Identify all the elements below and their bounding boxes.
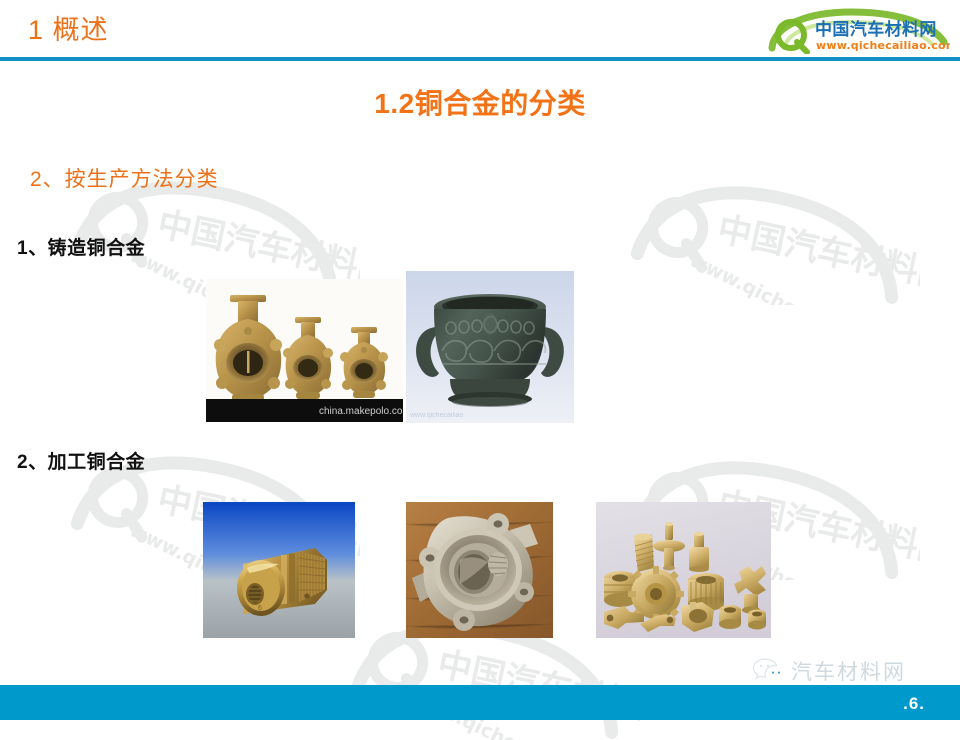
- watermark-tile: 中国汽车材料网www.qichecailiao.com: [620, 185, 920, 305]
- svg-text:中国汽车材料网: 中国汽车材料网: [815, 19, 937, 40]
- section-heading: 1.2铜合金的分类: [0, 82, 960, 122]
- page-title: 1 概述: [28, 8, 109, 47]
- subsection-heading: 2、按生产方法分类: [30, 163, 219, 193]
- footer-brand: 汽车材料网: [752, 654, 942, 688]
- svg-text:中国汽车材料网: 中国汽车材料网: [714, 209, 920, 298]
- figure-castings: china.makepolo.com: [206, 279, 403, 422]
- svg-text:www.qichecailiao: www.qichecailiao: [409, 412, 463, 419]
- page-number: .6.: [903, 694, 925, 714]
- svg-text:www.qichecailiao.com: www.qichecailiao.com: [816, 39, 950, 52]
- footer-brand-text: 汽车材料网: [791, 656, 906, 686]
- svg-text:www.qichecailiao.com: www.qichecailiao.com: [686, 249, 909, 305]
- figure-bronze-gui: www.qichecailiao: [406, 271, 574, 423]
- footer-bar: [0, 685, 960, 720]
- list-item-label: 2、加工铜合金: [17, 447, 145, 474]
- svg-text:china.makepolo.com: china.makepolo.com: [319, 406, 403, 417]
- brand-logo-icon: 中国汽车材料网 www.qichecailiao.com: [760, 8, 950, 54]
- figure-housing: [406, 502, 553, 638]
- svg-text:6: 6: [258, 605, 262, 612]
- wechat-icon: [752, 657, 784, 685]
- figure-parts-set: [596, 502, 771, 638]
- watermark-tile: 中国汽车材料网www.qichecailiao.com: [340, 620, 640, 740]
- list-item-label: 1、铸造铜合金: [17, 233, 145, 260]
- figure-brass-cap: 6: [203, 502, 355, 638]
- header-divider-rule: [0, 57, 960, 61]
